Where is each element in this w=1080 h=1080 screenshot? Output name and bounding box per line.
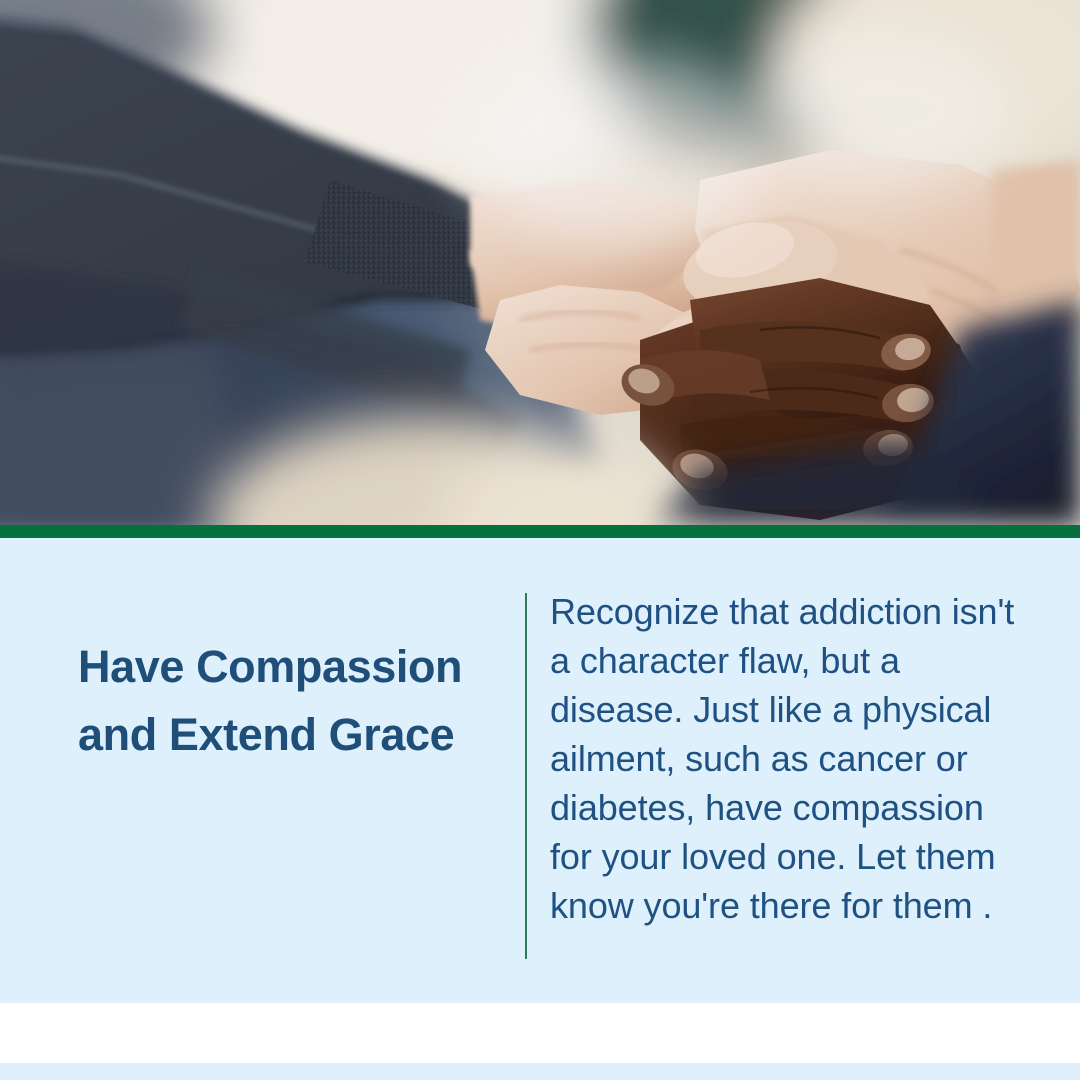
green-divider-bar [0, 525, 1080, 538]
heading-line-2: and Extend Grace [78, 701, 478, 769]
content-panel: Have Compassion and Extend Grace Recogni… [0, 538, 1080, 1003]
vertical-divider-rule [525, 593, 527, 959]
page-title: Have Compassion and Extend Grace [78, 633, 478, 770]
hero-photo [0, 0, 1080, 525]
bottom-white-band [0, 1003, 1080, 1063]
heading-line-1: Have Compassion [78, 633, 478, 701]
poster-canvas: Have Compassion and Extend Grace Recogni… [0, 0, 1080, 1080]
hero-photo-illustration [0, 0, 1080, 525]
bottom-blue-strip [0, 1063, 1080, 1080]
body-paragraph: Recognize that addiction isn't a charact… [550, 588, 1030, 931]
